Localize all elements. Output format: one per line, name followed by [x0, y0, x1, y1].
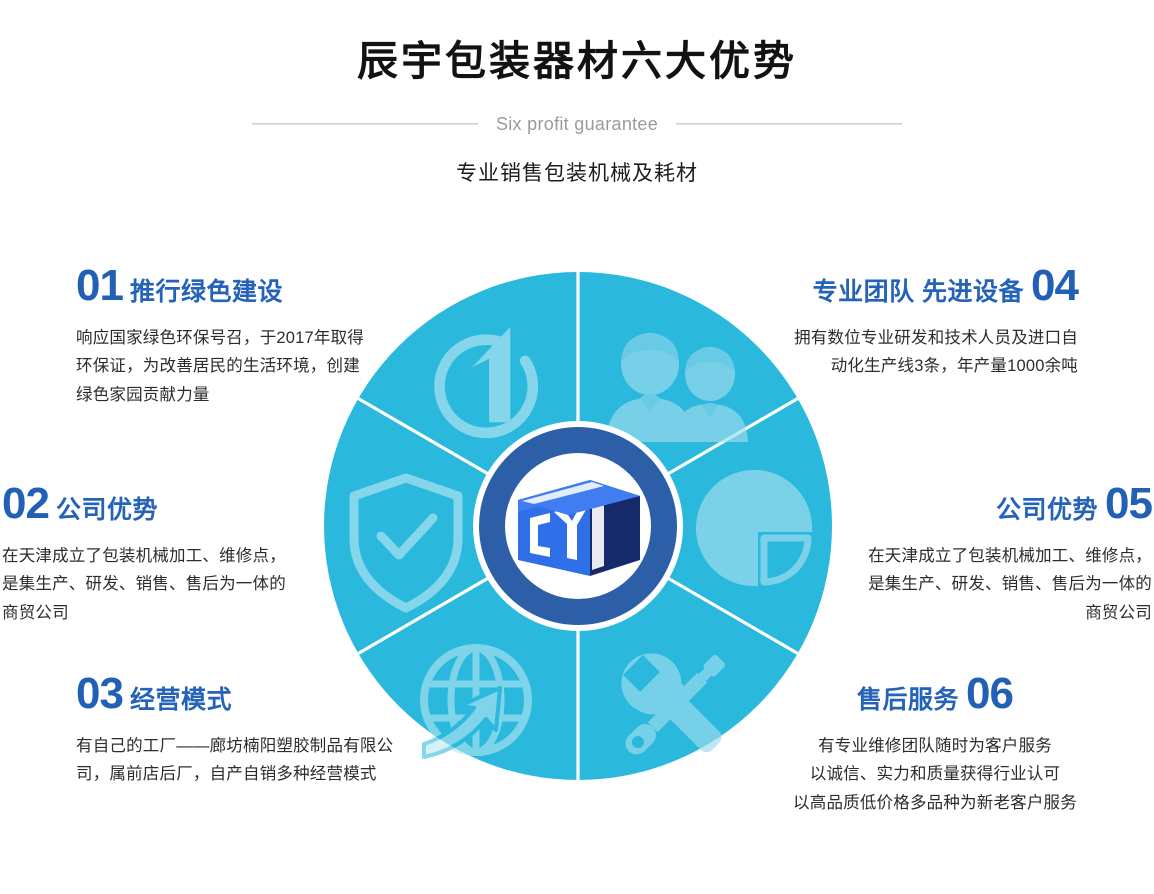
- advantage-02-heading: 02 公司优势: [2, 482, 302, 526]
- advantage-03-heading: 03 经营模式: [76, 672, 396, 716]
- advantage-item-03: 03 经营模式 有自己的工厂——廊坊楠阳塑胶制品有限公司，属前店后厂，自产自销多…: [76, 672, 396, 789]
- advantage-04-number: 04: [1031, 264, 1078, 308]
- advantage-01-heading: 01 推行绿色建设: [76, 264, 376, 308]
- advantage-04-label: 专业团队 先进设备: [813, 280, 1024, 305]
- advantage-03-label: 经营模式: [130, 688, 232, 713]
- advantage-item-05: 公司优势 05 在天津成立了包装机械加工、维修点，是集生产、研发、销售、售后为一…: [852, 482, 1152, 627]
- advantage-03-body: 有自己的工厂——廊坊楠阳塑胶制品有限公司，属前店后厂，自产自销多种经营模式: [76, 732, 396, 789]
- page-title: 辰宇包装器材六大优势: [0, 38, 1154, 85]
- advantage-06-number: 06: [966, 672, 1013, 716]
- subtitle-english: Six profit guarantee: [496, 114, 658, 135]
- advantage-02-body: 在天津成立了包装机械加工、维修点，是集生产、研发、销售、售后为一体的商贸公司: [2, 542, 302, 627]
- advantage-05-label: 公司优势: [996, 498, 1098, 523]
- advantage-item-06: 售后服务 06 有专业维修团队随时为客户服务 以诚信、实力和质量获得行业认可 以…: [770, 672, 1100, 817]
- subtitle-divider-row: Six profit guarantee: [0, 108, 1154, 140]
- subtitle-chinese: 专业销售包装机械及耗材: [0, 157, 1154, 187]
- advantage-06-label: 售后服务: [857, 688, 959, 713]
- advantage-04-heading: 专业团队 先进设备 04: [778, 264, 1078, 308]
- advantage-01-label: 推行绿色建设: [130, 280, 283, 305]
- advantage-06-heading: 售后服务 06: [770, 672, 1100, 716]
- divider-line-right: [676, 123, 902, 125]
- advantage-05-number: 05: [1105, 482, 1152, 526]
- advantage-01-number: 01: [76, 264, 123, 308]
- advantage-02-number: 02: [2, 482, 49, 526]
- advantage-04-body: 拥有数位专业研发和技术人员及进口自动化生产线3条，年产量1000余吨: [778, 324, 1078, 381]
- header: 辰宇包装器材六大优势 Six profit guarantee 专业销售包装机械…: [0, 0, 1154, 210]
- advantage-06-body: 有专业维修团队随时为客户服务 以诚信、实力和质量获得行业认可 以高品质低价格多品…: [770, 732, 1100, 817]
- advantage-05-body: 在天津成立了包装机械加工、维修点，是集生产、研发、销售、售后为一体的商贸公司: [852, 542, 1152, 627]
- advantage-item-02: 02 公司优势 在天津成立了包装机械加工、维修点，是集生产、研发、销售、售后为一…: [2, 482, 302, 627]
- advantage-item-04: 专业团队 先进设备 04 拥有数位专业研发和技术人员及进口自动化生产线3条，年产…: [778, 264, 1078, 381]
- advantage-03-number: 03: [76, 672, 123, 716]
- six-segment-wheel: [324, 272, 832, 780]
- advantage-01-body: 响应国家绿色环保号召，于2017年取得环保证，为改善居民的生活环境，创建绿色家园…: [76, 324, 376, 409]
- advantage-05-heading: 公司优势 05: [852, 482, 1152, 526]
- advantage-02-label: 公司优势: [56, 498, 158, 523]
- divider-line-left: [252, 123, 478, 125]
- advantage-item-01: 01 推行绿色建设 响应国家绿色环保号召，于2017年取得环保证，为改善居民的生…: [76, 264, 376, 409]
